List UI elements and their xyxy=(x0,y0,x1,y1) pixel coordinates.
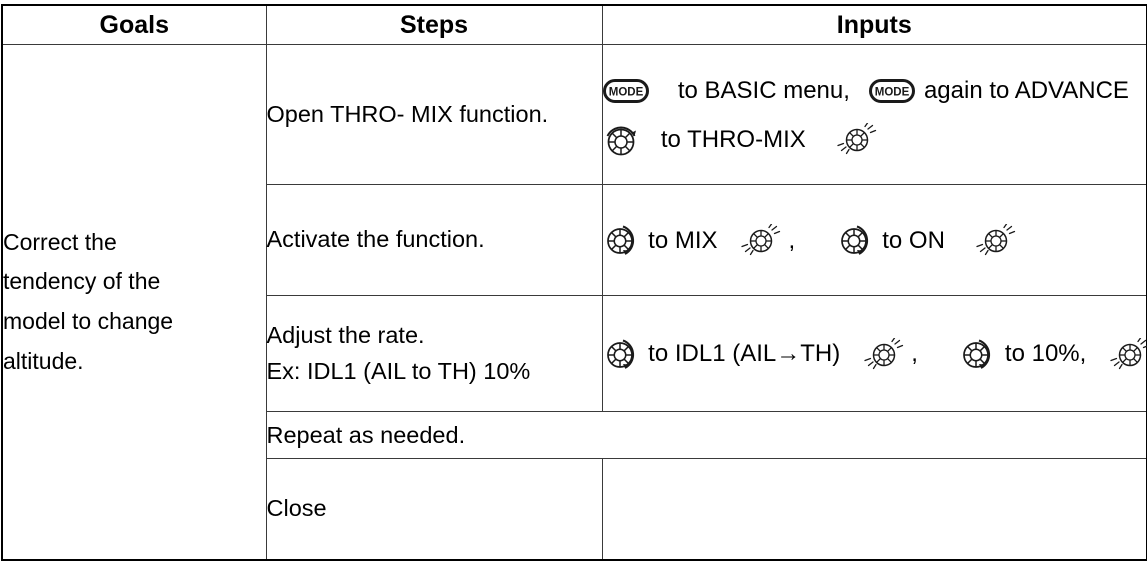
dial-press-icon[interactable] xyxy=(739,224,781,258)
inputs-comma-3: , xyxy=(911,340,918,367)
column-header-goals: Goals xyxy=(2,5,266,45)
inputs-text-1a: to BASIC menu, xyxy=(678,77,850,104)
step-text-4: Repeat as needed. xyxy=(267,422,466,448)
svg-text:MODE: MODE xyxy=(608,87,643,99)
inputs-text-3b: to 10%, xyxy=(1005,340,1086,367)
step-cell-1: Open THRO- MIX function. xyxy=(266,45,602,185)
column-header-inputs: Inputs xyxy=(602,5,1147,45)
dial-press-icon[interactable] xyxy=(862,338,904,372)
goal-line-4: altitude. xyxy=(3,342,266,382)
mode-button-icon[interactable]: MODE xyxy=(603,79,649,103)
dial-turn-icon[interactable] xyxy=(959,338,997,372)
dial-press-icon[interactable] xyxy=(835,123,877,157)
inputs-text-1b: again to ADVANCE xyxy=(924,77,1129,104)
inputs-text-1c: to THRO-MIX xyxy=(661,125,806,152)
svg-text:MODE: MODE xyxy=(875,87,910,99)
dial-turn-icon[interactable] xyxy=(603,338,641,372)
inputs-line-2a: to MIX xyxy=(603,220,1147,260)
step-cell-5: Close xyxy=(266,459,602,561)
goal-line-2: tendency of the xyxy=(3,262,266,302)
step-text-5: Close xyxy=(267,495,327,521)
step-text-3a: Adjust the rate. xyxy=(267,318,602,353)
goal-line-1: Correct the xyxy=(3,223,266,263)
step-cell-2: Activate the function. xyxy=(266,185,602,296)
inputs-line-1a: MODE to BASIC menu, MODE again to xyxy=(603,70,1147,110)
dial-press-icon[interactable] xyxy=(1108,338,1147,372)
inputs-text-3a: to IDL1 (AIL→TH) xyxy=(648,340,840,367)
mode-button-icon[interactable]: MODE xyxy=(869,79,915,103)
inputs-text-2b: to ON xyxy=(882,227,945,254)
dial-turn-icon[interactable] xyxy=(603,123,641,157)
inputs-text-2a: to MIX xyxy=(648,227,717,254)
inputs-line-3a: to IDL1 (AIL→TH) xyxy=(603,333,1147,373)
table-row: Correct the tendency of the model to cha… xyxy=(2,45,1147,185)
step-text-3b: Ex: IDL1 (AIL to TH) 10% xyxy=(267,354,602,389)
dial-turn-icon[interactable] xyxy=(837,224,875,258)
table-header-row: Goals Steps Inputs xyxy=(2,5,1147,45)
step-cell-3: Adjust the rate. Ex: IDL1 (AIL to TH) 10… xyxy=(266,296,602,412)
inputs-cell-2: to MIX xyxy=(602,185,1147,296)
step-cell-4-merged: Repeat as needed. xyxy=(266,412,1147,459)
goal-line-3: model to change xyxy=(3,302,266,342)
inputs-line-1b: to THRO-MIX xyxy=(603,119,1147,159)
procedure-sheet: Goals Steps Inputs Correct the tendency … xyxy=(0,4,1147,566)
goal-cell: Correct the tendency of the model to cha… xyxy=(2,45,266,561)
step-text-1: Open THRO- MIX function. xyxy=(267,101,549,127)
inputs-comma-2: , xyxy=(789,227,796,254)
inputs-cell-1: MODE to BASIC menu, MODE again to xyxy=(602,45,1147,185)
dial-press-icon[interactable] xyxy=(974,224,1016,258)
step-text-2: Activate the function. xyxy=(267,226,485,252)
column-header-steps: Steps xyxy=(266,5,602,45)
inputs-cell-3: to IDL1 (AIL→TH) xyxy=(602,296,1147,412)
inputs-cell-5-empty xyxy=(602,459,1147,561)
dial-turn-icon[interactable] xyxy=(603,224,641,258)
procedure-table: Goals Steps Inputs Correct the tendency … xyxy=(1,4,1147,561)
